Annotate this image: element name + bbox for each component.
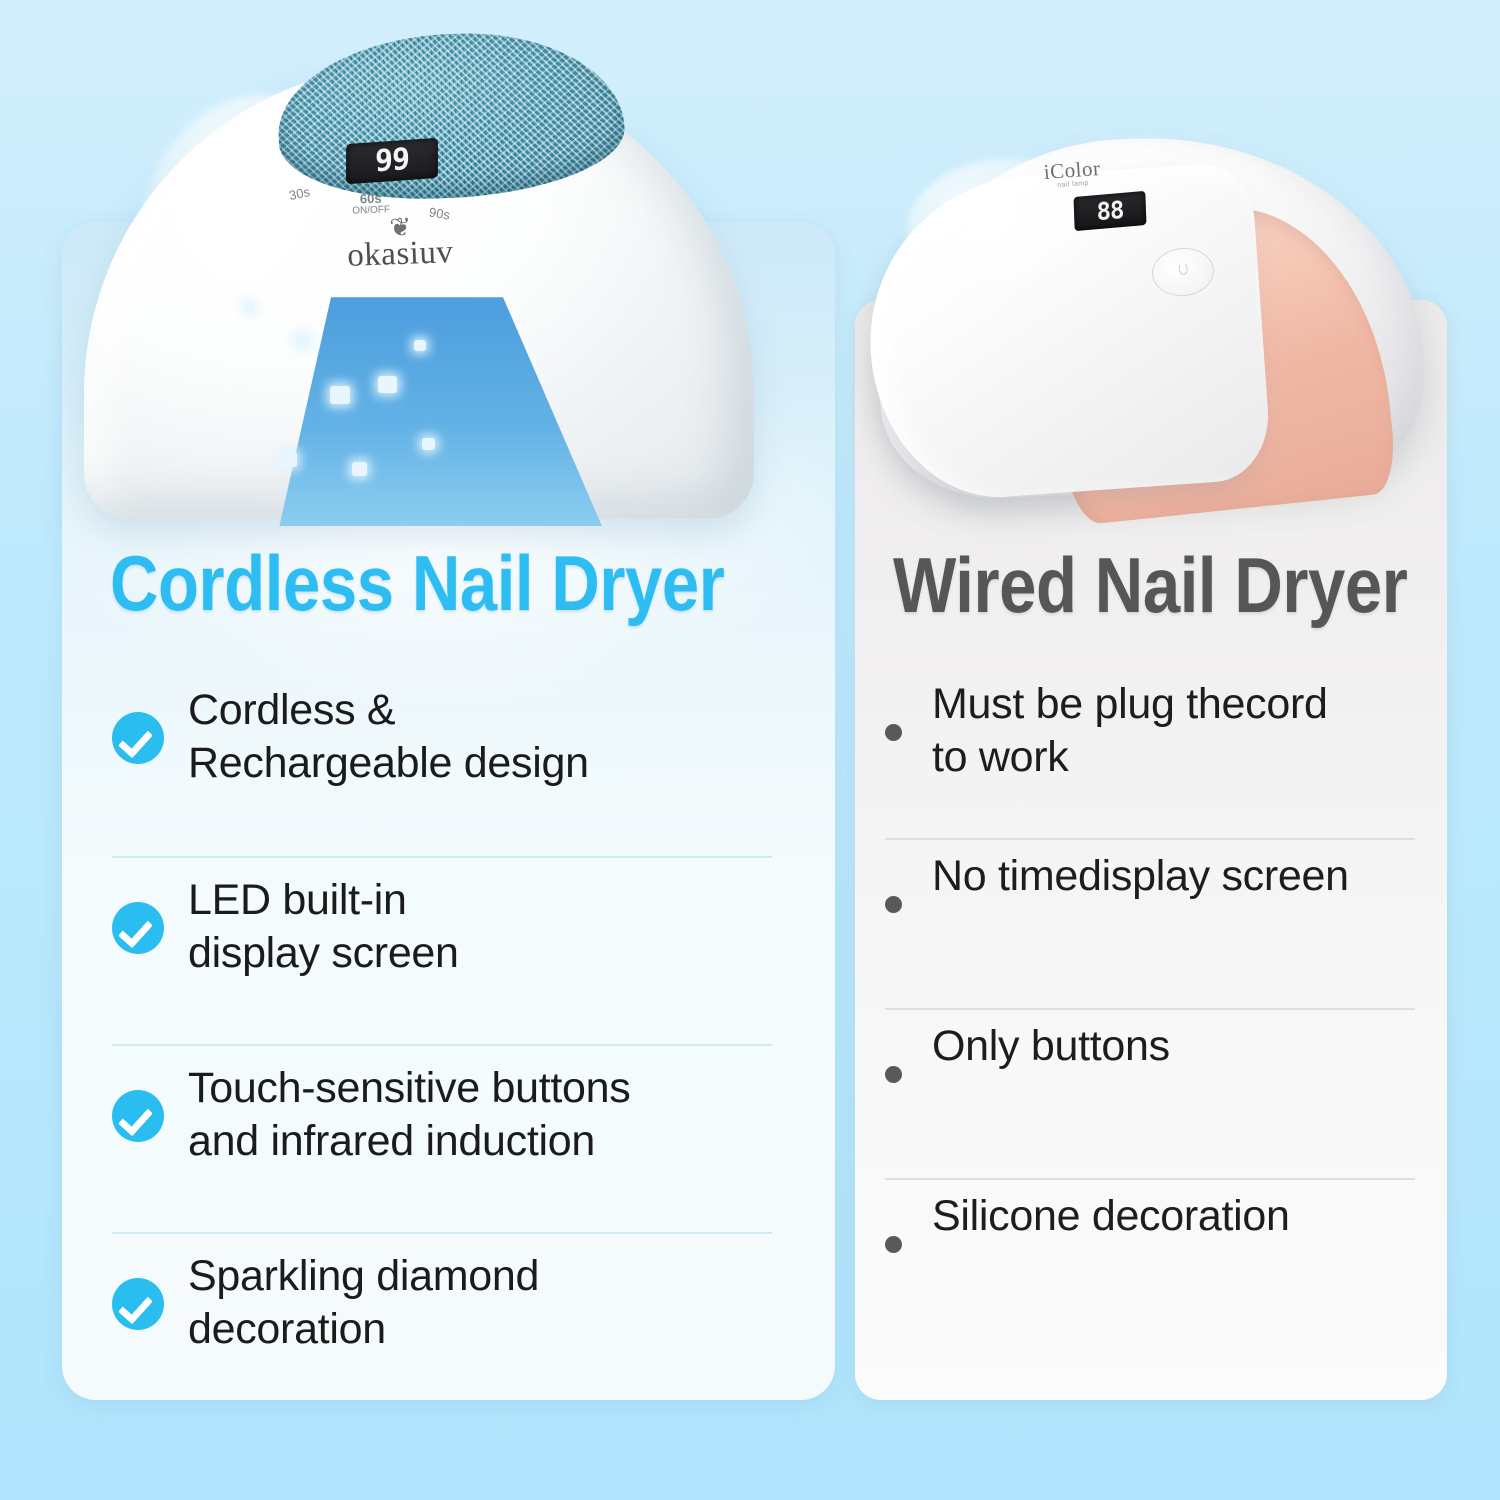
timer-label-60s[interactable]: 60s ON/OFF: [352, 191, 391, 216]
feature-label: Must be plug thecord to work: [932, 678, 1328, 784]
bullet-dot-icon: [885, 1066, 902, 1083]
brand-name-text: okasiuv: [300, 233, 501, 277]
wired-panel-title: Wired Nail Dryer: [893, 540, 1407, 631]
list-item: Touch-sensitive buttons and infrared ind…: [112, 1044, 772, 1232]
wired-feature-list: Must be plug thecord to work No timedisp…: [885, 668, 1415, 1348]
check-circle-icon: [112, 712, 164, 764]
timer-display-screen: 99: [346, 138, 438, 185]
okasiuv-brand-logo: ❦ okasiuv: [299, 215, 501, 277]
infographic-canvas: 99 30s 60s ON/OFF 90s ❦ okasiuv iColor n…: [0, 0, 1500, 1500]
wired-nail-dryer-image: iColor nail lamp 88: [866, 132, 1436, 522]
cordless-feature-list: Cordless & Rechargeable design LED built…: [112, 668, 772, 1420]
check-circle-icon: [112, 902, 164, 954]
feature-label: Cordless & Rechargeable design: [188, 684, 589, 790]
feature-label: Touch-sensitive buttons and infrared ind…: [188, 1062, 630, 1168]
list-item: Sparkling diamond decoration: [112, 1232, 772, 1420]
feature-label: Silicone decoration: [932, 1190, 1290, 1243]
arch-shell-group: iColor nail lamp 88: [866, 132, 1436, 502]
list-item: Only buttons: [885, 1008, 1415, 1178]
bullet-dot-icon: [885, 724, 902, 741]
bullet-dot-icon: [885, 1236, 902, 1253]
feature-label: Sparkling diamond decoration: [188, 1250, 539, 1356]
feature-label: No timedisplay screen: [932, 850, 1349, 903]
check-circle-icon: [112, 1278, 164, 1330]
feature-label: Only buttons: [932, 1020, 1170, 1073]
icolor-brand-logo: iColor nail lamp: [1043, 158, 1101, 190]
brand-name-text: iColor: [1043, 158, 1101, 183]
display-digits: 88: [1096, 198, 1124, 224]
list-item: Must be plug thecord to work: [885, 668, 1415, 838]
list-item: No timedisplay screen: [885, 838, 1415, 1008]
check-circle-icon: [112, 1090, 164, 1142]
list-item: Cordless & Rechargeable design: [112, 668, 772, 856]
timer-display-screen: 88: [1074, 191, 1147, 231]
timer-label-onoff: ON/OFF: [352, 205, 390, 217]
feature-label: LED built-in display screen: [188, 874, 459, 980]
cordless-panel-title: Cordless Nail Dryer: [110, 538, 724, 629]
cordless-nail-dryer-image: 99 30s 60s ON/OFF 90s ❦ okasiuv: [84, 34, 754, 546]
bullet-dot-icon: [885, 896, 902, 913]
list-item: Silicone decoration: [885, 1178, 1415, 1348]
display-digits: 99: [375, 145, 409, 177]
list-item: LED built-in display screen: [112, 856, 772, 1044]
